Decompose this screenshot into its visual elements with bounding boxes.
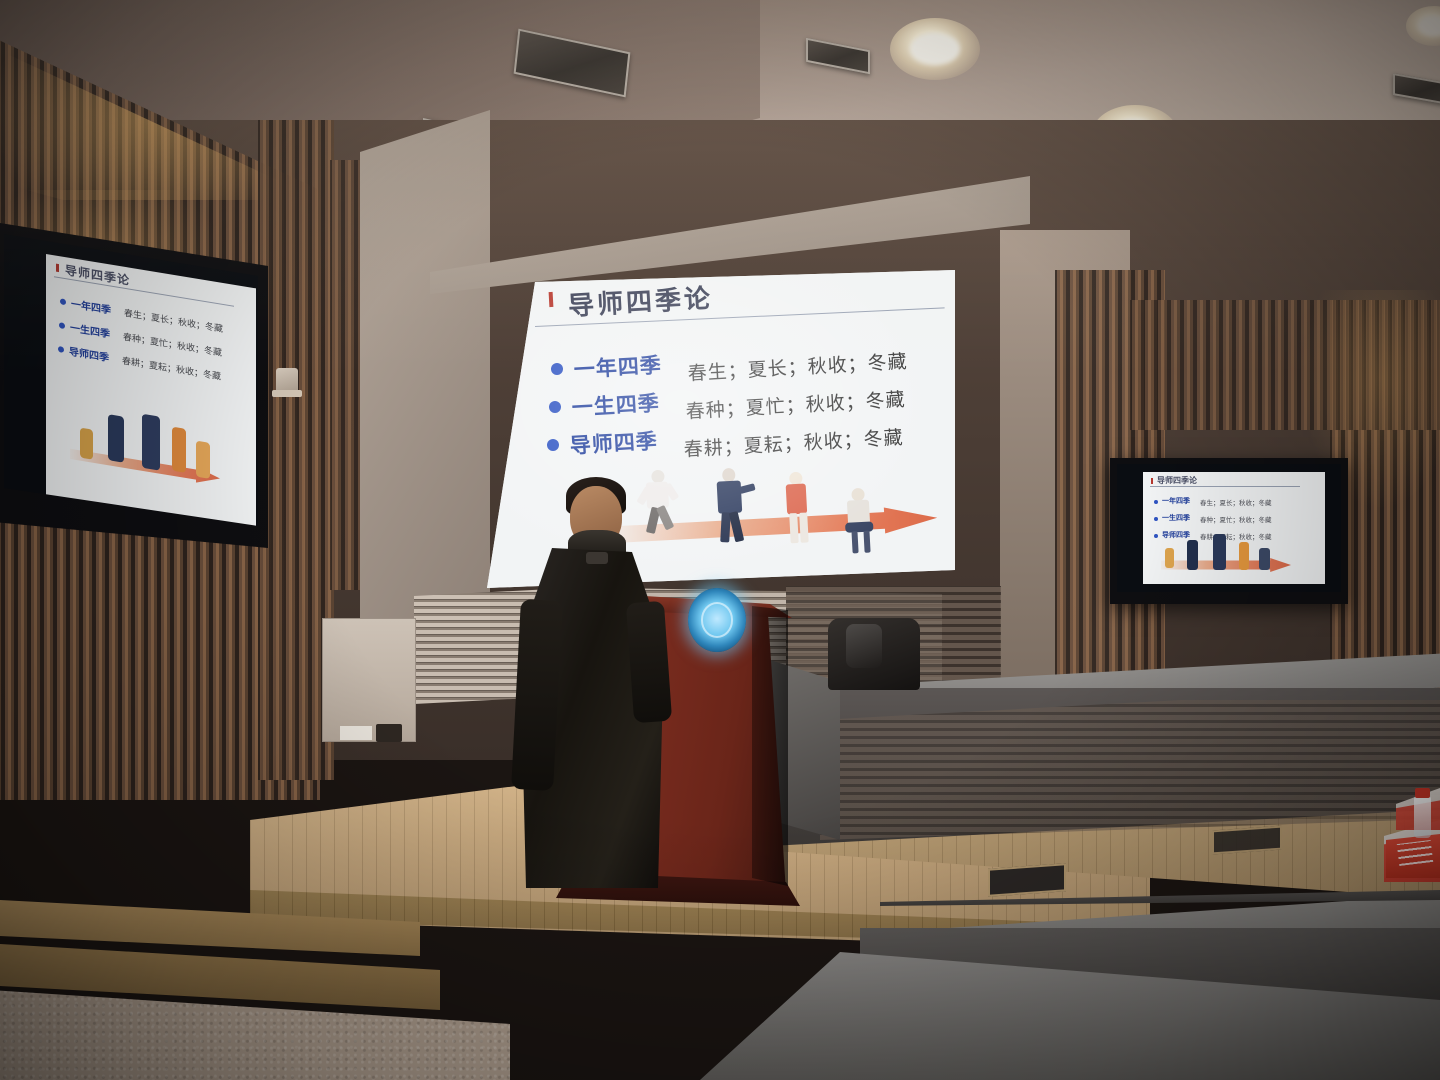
presenter-shirt-collar	[586, 552, 608, 564]
slide-title: 导师四季论	[567, 278, 714, 323]
right-tv-bullet-value: 春种；夏忙；秋收；冬藏	[1200, 514, 1272, 524]
ceiling-downlight	[890, 18, 980, 80]
wall-speaker-bracket	[272, 390, 302, 397]
slide-bullet-key: 一生四季	[571, 387, 661, 422]
stage-floor-vent	[988, 863, 1066, 896]
stage-floor-vent	[1212, 826, 1282, 855]
right-tv-slide: 导师四季论 一年四季 春生；夏长；秋收；冬藏 一生四季 春种；夏忙；秋收；冬藏 …	[1143, 472, 1325, 584]
wall-access-panel	[322, 618, 416, 742]
right-tv-bullet-value: 春生；夏长；秋收；冬藏	[1200, 497, 1272, 507]
right-tv-bullet-key: 一年四季	[1162, 496, 1190, 506]
right-tv-bullet-key: 导师四季	[1162, 530, 1190, 540]
university-emblem	[688, 588, 746, 652]
right-tv-bullet-value: 春耕；夏耘；秋收；冬藏	[1200, 531, 1272, 541]
slide-bullet-marker	[547, 439, 559, 451]
slide-figure-running	[637, 469, 681, 543]
right-tv-slide-title: 导师四季论	[1157, 475, 1197, 486]
left-tv-slide-title: 导师四季论	[65, 261, 130, 289]
lecture-hall-photo: 导师四季论 一年四季 春生；夏长；秋收；冬藏 一生四季 春种；夏忙；秋收；冬藏 …	[0, 0, 1440, 1080]
slide-title-tick	[549, 292, 554, 307]
left-wall-tv-screen: 导师四季论 一年四季 春生；夏长；秋收；冬藏 一生四季 春种；夏忙；秋收；冬藏 …	[4, 232, 258, 526]
left-tv-bullet-value: 春耕；夏耘；秋收；冬藏	[122, 353, 221, 382]
slide-bullet-key: 一年四季	[573, 349, 663, 384]
left-tv-bullet-key: 导师四季	[69, 343, 109, 365]
right-tv-bullet-key: 一生四季	[1162, 513, 1190, 523]
slide-bullet-value: 春种；夏忙；秋收；冬藏	[685, 385, 906, 424]
name-placard-text	[1397, 840, 1433, 866]
slide-bullet-key: 导师四季	[569, 425, 659, 460]
left-tv-bullet-key: 一生四季	[70, 319, 110, 341]
left-tv-bullet-value: 春种；夏忙；秋收；冬藏	[123, 330, 222, 359]
left-tv-slide: 导师四季论 一年四季 春生；夏长；秋收；冬藏 一生四季 春种；夏忙；秋收；冬藏 …	[46, 254, 256, 526]
lectern-right-shadow	[752, 606, 788, 886]
water-bottle	[1414, 796, 1431, 838]
office-chair-highlight	[846, 624, 882, 668]
power-outlet[interactable]	[376, 724, 402, 742]
slide-bullet-marker	[551, 363, 563, 375]
water-bottle-cap	[1415, 788, 1430, 798]
projection-screen: 导师四季论 一年四季 春生；夏长；秋收；冬藏 一生四季 春种；夏忙；秋收；冬藏 …	[487, 270, 955, 588]
head-table-slat-face	[820, 700, 1440, 840]
left-tv-bullet-key: 一年四季	[71, 295, 111, 317]
slat-wall-right-band	[1130, 300, 1440, 430]
slide-bullet-value: 春生；夏长；秋收；冬藏	[687, 347, 908, 386]
slide-figure-seated	[837, 487, 884, 557]
slide-bullet-marker	[549, 401, 561, 413]
slide-figure-presenting	[707, 467, 755, 549]
slide-figure-standing	[777, 471, 817, 549]
left-tv-bullet-value: 春生；夏长；秋收；冬藏	[124, 306, 223, 335]
slide-bullet-value: 春耕；夏耘；秋收；冬藏	[683, 423, 904, 462]
right-wall-tv-screen: 导师四季论 一年四季 春生；夏长；秋收；冬藏 一生四季 春种；夏忙；秋收；冬藏 …	[1117, 464, 1341, 592]
screen-bulkhead	[360, 110, 490, 630]
panel-label	[340, 726, 372, 740]
projection-screen-surface: 导师四季论 一年四季 春生；夏长；秋收；冬藏 一生四季 春种；夏忙；秋收；冬藏 …	[487, 270, 955, 588]
right-tv-arrow-graphic	[1161, 558, 1291, 572]
